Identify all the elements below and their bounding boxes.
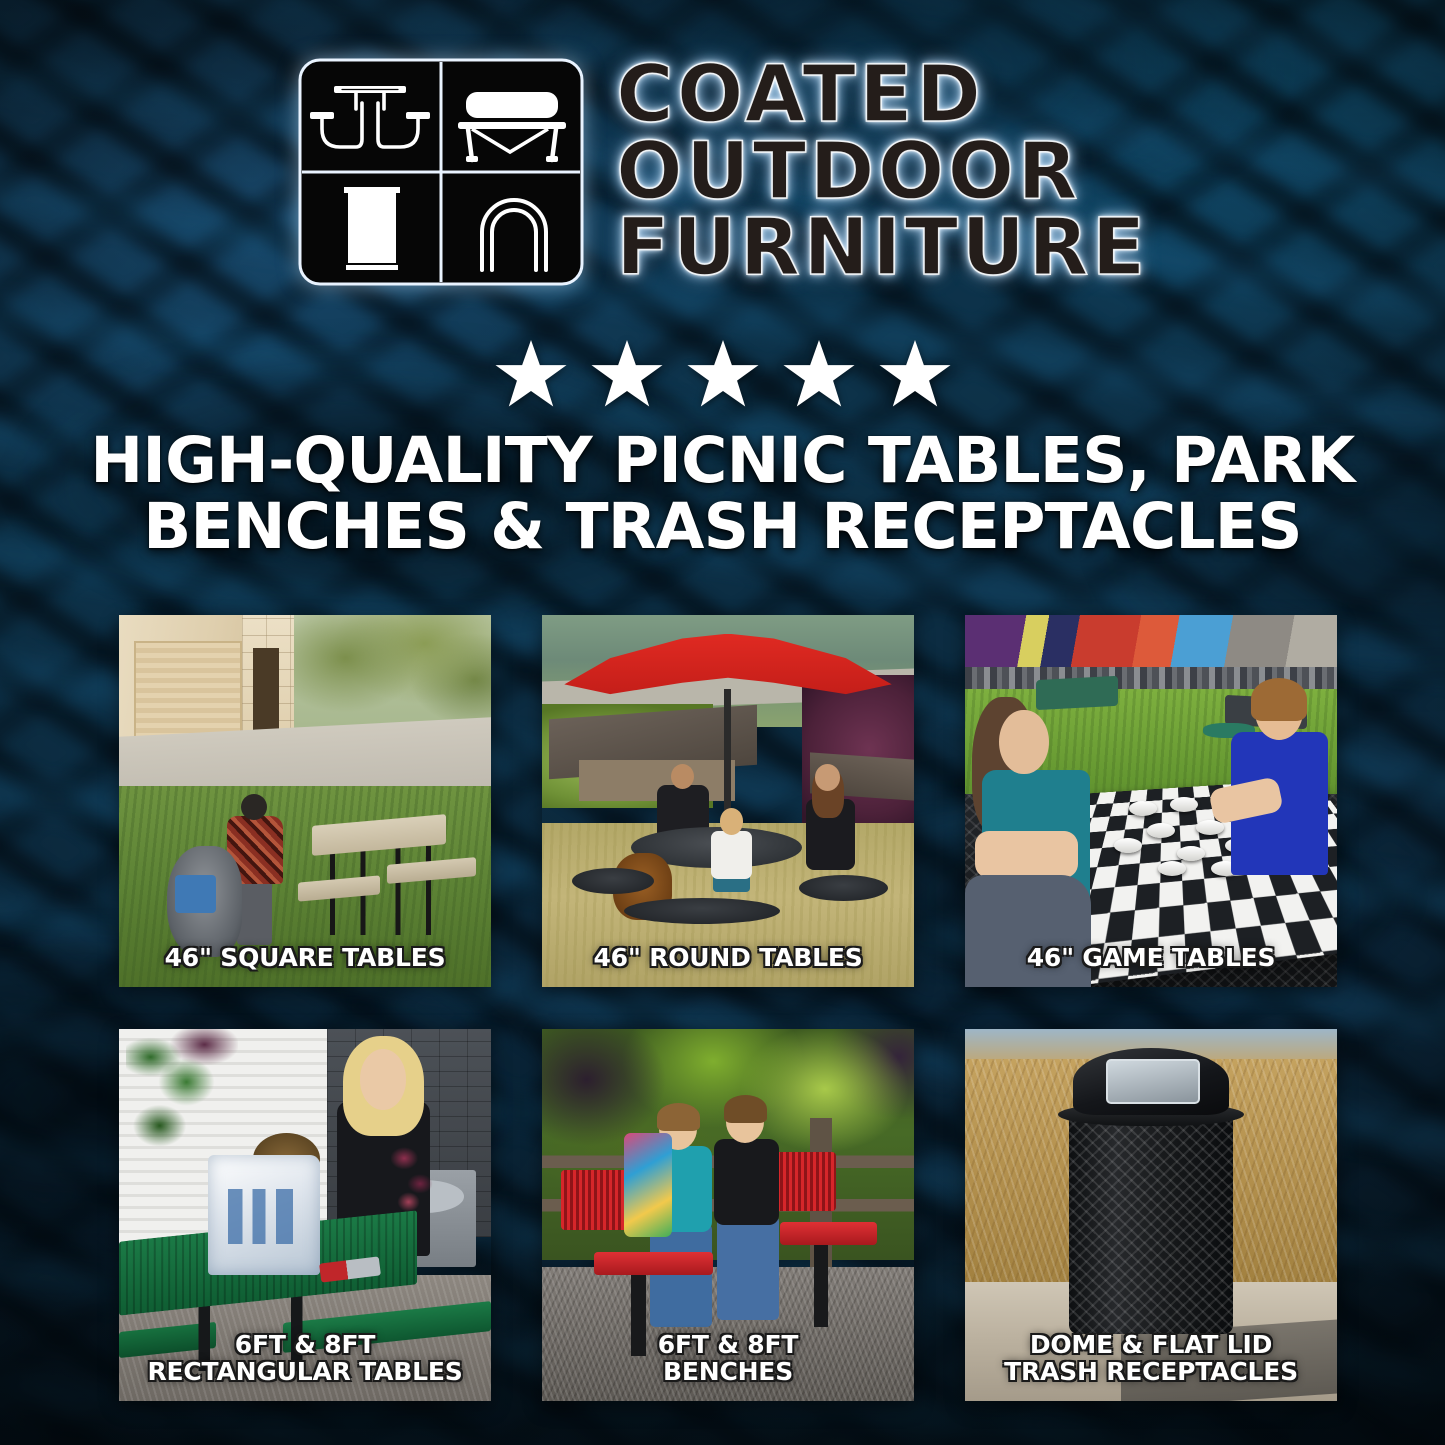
trash-receptacle-icon xyxy=(344,187,400,270)
star-icon xyxy=(782,338,856,410)
product-caption: 46" ROUND TABLES xyxy=(542,945,914,972)
product-card-benches[interactable]: 6FT & 8FT BENCHES xyxy=(542,1029,914,1401)
brand-name-line-2: OUTDOOR xyxy=(616,135,1148,210)
brand-name-line-3: FURNITURE xyxy=(616,211,1148,286)
product-card-round-tables[interactable]: 46" ROUND TABLES xyxy=(542,615,914,987)
product-grid: 46" SQUARE TABLES 46" ROUND TABLES xyxy=(119,615,1337,1401)
headline-line-1: HIGH-QUALITY PICNIC TABLES, PARK xyxy=(70,428,1375,494)
product-photo-game-tables xyxy=(965,615,1337,987)
product-card-rectangular-tables[interactable]: 6FT & 8FT RECTANGULAR TABLES xyxy=(119,1029,491,1401)
product-caption: 46" SQUARE TABLES xyxy=(119,945,491,972)
caption-line: 46" ROUND TABLES xyxy=(550,945,906,972)
brand-wordmark: COATED OUTDOOR FURNITURE xyxy=(616,58,1148,287)
star-icon xyxy=(494,338,568,410)
product-caption: 46" GAME TABLES xyxy=(965,945,1337,972)
page-headline: HIGH-QUALITY PICNIC TABLES, PARK BENCHES… xyxy=(0,428,1445,559)
caption-line: TRASH RECEPTACLES xyxy=(973,1359,1329,1386)
headline-line-2: BENCHES & TRASH RECEPTACLES xyxy=(70,494,1375,560)
promo-poster: COATED OUTDOOR FURNITURE HIGH-QUALITY PI… xyxy=(0,0,1445,1445)
product-photo-round-tables xyxy=(542,615,914,987)
product-card-square-tables[interactable]: 46" SQUARE TABLES xyxy=(119,615,491,987)
star-icon xyxy=(590,338,664,410)
caption-line: 6FT & 8FT xyxy=(550,1332,906,1359)
product-card-game-tables[interactable]: 46" GAME TABLES xyxy=(965,615,1337,987)
coated-outdoor-furniture-logo xyxy=(296,56,586,288)
caption-line: 6FT & 8FT xyxy=(127,1332,483,1359)
caption-line: 46" GAME TABLES xyxy=(973,945,1329,972)
caption-line: BENCHES xyxy=(550,1359,906,1386)
product-caption: 6FT & 8FT RECTANGULAR TABLES xyxy=(119,1332,491,1385)
caption-line: 46" SQUARE TABLES xyxy=(127,945,483,972)
star-icon xyxy=(686,338,760,410)
star-icon xyxy=(878,338,952,410)
caption-line: RECTANGULAR TABLES xyxy=(127,1359,483,1386)
product-caption: DOME & FLAT LID TRASH RECEPTACLES xyxy=(965,1332,1337,1385)
caption-line: DOME & FLAT LID xyxy=(973,1332,1329,1359)
brand-name-line-1: COATED xyxy=(616,58,1148,133)
product-photo-square-tables xyxy=(119,615,491,987)
product-card-trash-receptacles[interactable]: DOME & FLAT LID TRASH RECEPTACLES xyxy=(965,1029,1337,1401)
product-caption: 6FT & 8FT BENCHES xyxy=(542,1332,914,1385)
brand-header: COATED OUTDOOR FURNITURE xyxy=(0,56,1445,288)
star-rating xyxy=(0,338,1445,410)
